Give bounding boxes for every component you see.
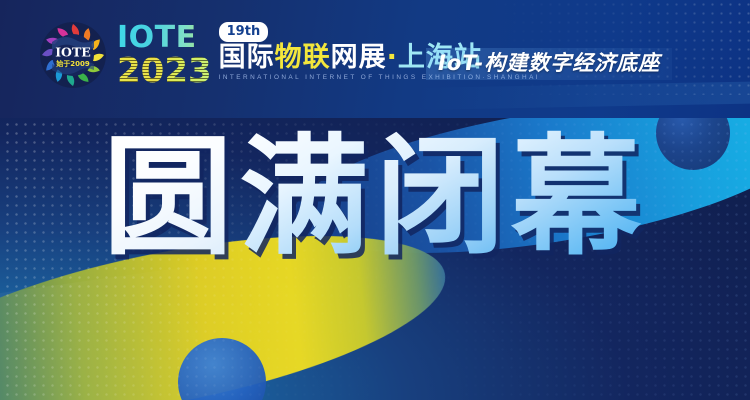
iote-globe-emblem-icon: IOTE 始于2009	[40, 22, 106, 88]
emblem-founded-text: 始于2009	[55, 59, 90, 68]
iote-2023-closing-banner: IOTE 始于2009 IOTE 2023 19th 国际物联网展·上海站 IN…	[0, 0, 750, 400]
brand-name-iote: IOTE	[117, 23, 212, 53]
brand-year-2023: 2023	[117, 54, 212, 88]
event-slogan: IoT-构建数字经济底座	[426, 48, 672, 80]
title-cn-part2: 物联	[275, 42, 331, 73]
emblem-center-text: IOTE	[55, 45, 91, 60]
headline-closing-ceremony: 圆满闭幕	[0, 132, 750, 262]
headline-char-2: 满	[239, 121, 375, 273]
brand-name-stack: IOTE 2023	[117, 23, 212, 88]
title-cn-separator: ·	[387, 42, 398, 73]
headline-char-1: 圆	[103, 121, 239, 273]
edition-badge: 19th	[219, 22, 269, 42]
headline-char-3: 闭	[375, 121, 511, 273]
banner-header-bar: IOTE 始于2009 IOTE 2023 19th 国际物联网展·上海站 IN…	[0, 0, 750, 118]
headline-char-4: 幕	[511, 121, 647, 273]
title-cn-part3: 网展	[331, 42, 387, 73]
title-cn-part1: 国际	[219, 42, 275, 73]
